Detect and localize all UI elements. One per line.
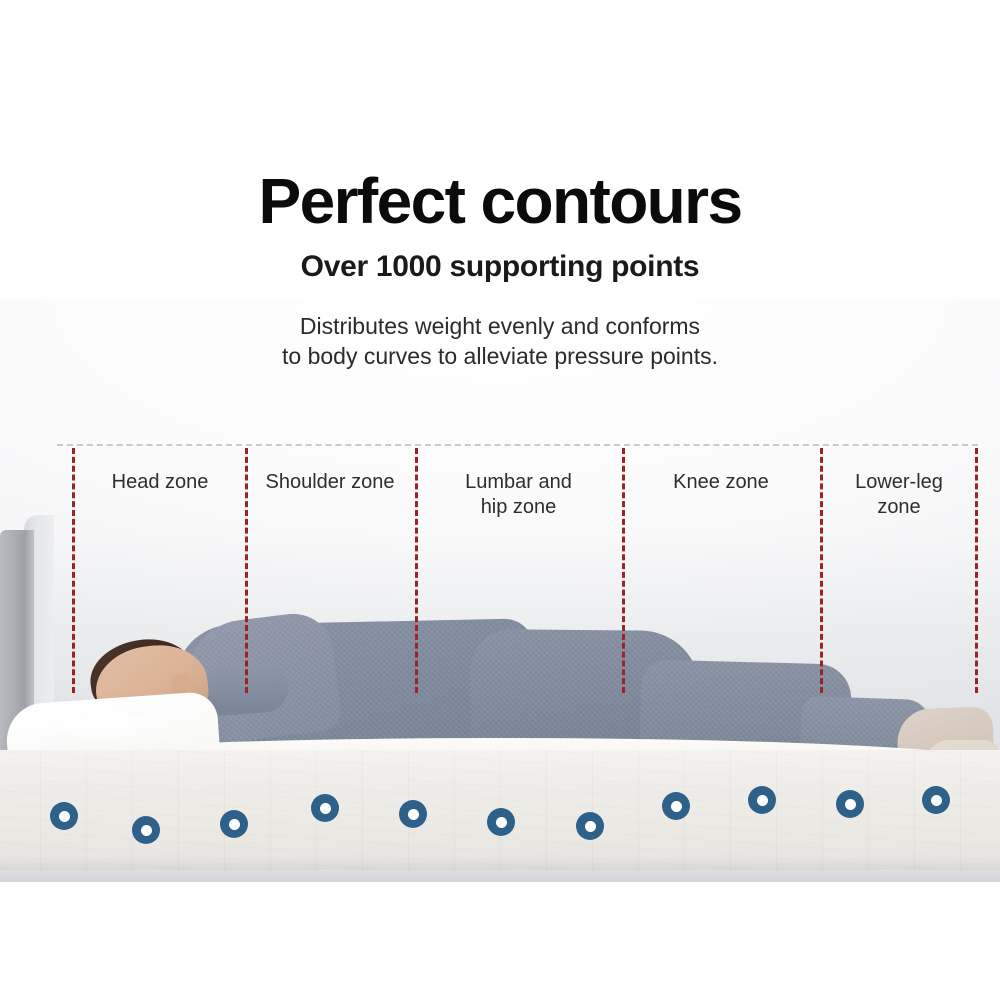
support-point-marker xyxy=(576,812,604,840)
support-point-marker xyxy=(311,794,339,822)
support-point-marker xyxy=(132,816,160,844)
support-point-marker xyxy=(50,802,78,830)
support-point-marker xyxy=(922,786,950,814)
support-point-marker xyxy=(662,792,690,820)
support-point-marker xyxy=(748,786,776,814)
support-point-marker xyxy=(487,808,515,836)
support-point-markers xyxy=(0,0,1000,1000)
product-feature-graphic: Perfect contours Over 1000 supporting po… xyxy=(0,0,1000,1000)
support-point-marker xyxy=(399,800,427,828)
support-point-marker xyxy=(836,790,864,818)
support-point-marker xyxy=(220,810,248,838)
